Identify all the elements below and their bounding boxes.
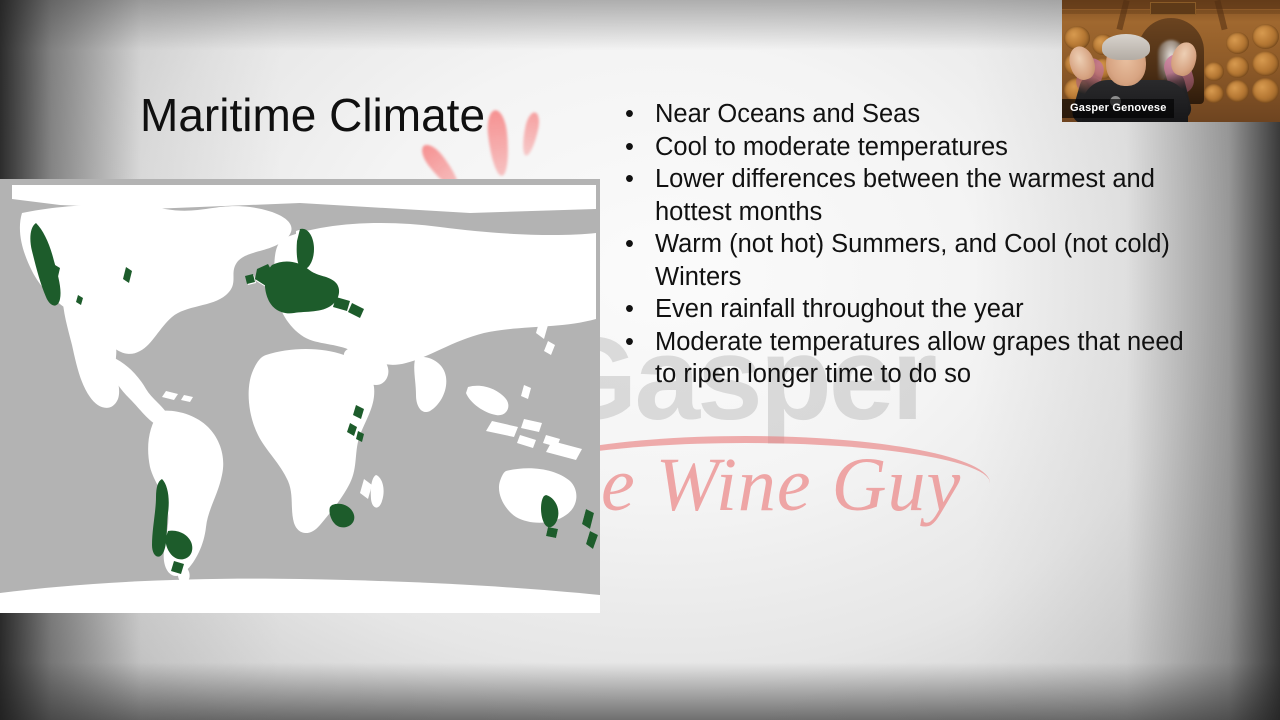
list-item-label: Moderate temperatures allow grapes that …: [655, 326, 1190, 391]
list-item: • Lower differences between the warmest …: [620, 163, 1190, 228]
bullet-marker-icon: •: [620, 163, 655, 196]
webcam-video-tile[interactable]: Gasper Genovese: [1062, 0, 1280, 122]
wine-barrel: [1252, 51, 1279, 76]
wine-barrel: [1226, 32, 1249, 54]
bullet-marker-icon: •: [620, 326, 655, 359]
list-item: • Even rainfall throughout the year: [620, 293, 1190, 326]
wine-barrel: [1226, 56, 1249, 78]
slide-bullet-list: • Near Oceans and Seas • Cool to moderat…: [620, 98, 1190, 391]
list-item-label: Even rainfall throughout the year: [655, 293, 1190, 326]
list-item: • Warm (not hot) Summers, and Cool (not …: [620, 228, 1190, 293]
world-map-svg: [0, 179, 600, 613]
bullet-marker-icon: •: [620, 293, 655, 326]
wine-barrel: [1252, 78, 1279, 103]
wine-barrel: [1204, 84, 1224, 103]
list-item: • Cool to moderate temperatures: [620, 131, 1190, 164]
bullet-marker-icon: •: [620, 98, 655, 131]
world-map-image: [0, 179, 600, 613]
list-item: • Moderate temperatures allow grapes tha…: [620, 326, 1190, 391]
presentation-slide: Gasper The Wine Guy Maritime Climate: [0, 0, 1280, 720]
list-item-label: Cool to moderate temperatures: [655, 131, 1190, 164]
wine-barrel: [1204, 62, 1224, 81]
wine-barrel: [1226, 80, 1249, 102]
presenter-hair: [1102, 34, 1150, 60]
wall-plaque: [1150, 2, 1196, 15]
list-item-label: Lower differences between the warmest an…: [655, 163, 1190, 228]
wine-barrel: [1252, 24, 1279, 49]
participant-name-label: Gasper Genovese: [1062, 99, 1174, 118]
bullet-marker-icon: •: [620, 228, 655, 261]
list-item-label: Warm (not hot) Summers, and Cool (not co…: [655, 228, 1190, 293]
bullet-marker-icon: •: [620, 131, 655, 164]
slide-title: Maritime Climate: [140, 88, 485, 142]
